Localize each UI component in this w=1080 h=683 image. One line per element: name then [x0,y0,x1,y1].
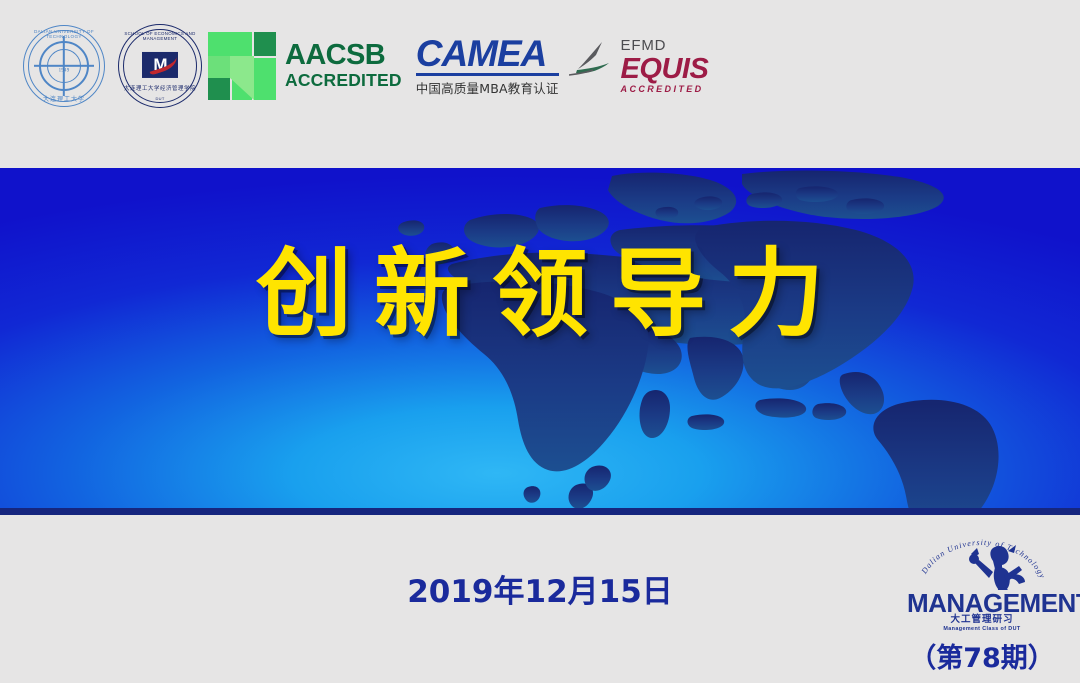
poster-slide: DALIAN UNIVERSITY OF TECHNOLOGY 1949 大连理… [0,0,1080,683]
aacsb-wordmark: AACSB [285,41,402,70]
sem-seal-arc-top: SCHOOL OF ECONOMICS AND MANAGEMENT [118,31,202,41]
dut-seal-arc-bottom: 大连理工大学 [22,94,106,103]
camea-subtitle-cn: 中国高质量MBA教育认证 [416,78,559,97]
dut-seal-year: 1949 [59,69,70,74]
issue-number: （第78期） [902,636,1062,675]
camea-accredited-logo: CAMEA 中国高质量MBA教育认证 [416,35,559,96]
management-logo-block: Dalian University of Technology MANAGEME… [902,532,1062,675]
sem-school-seal-icon: SCHOOL OF ECONOMICS AND MANAGEMENT M 大连理… [118,24,206,108]
management-name-en: Management Class of DUT [907,626,1057,632]
management-logo-icon: Dalian University of Technology MANAGEME… [907,532,1057,632]
banner-bottom-edge [0,508,1080,515]
equis-accredited-label: ACCREDITED [621,84,709,94]
aacsb-accredited-logo: AACSB ACCREDITED [208,32,402,100]
equis-accredited-logo: EFMD EQUIS ACCREDITED [569,38,709,95]
dut-seal-arc-top: DALIAN UNIVERSITY OF TECHNOLOGY [22,29,106,39]
svg-text:Dalian University of Technolog: Dalian University of Technology [919,538,1047,580]
aacsb-accredited-label: ACCREDITED [285,70,402,92]
efmd-leaf-icon [569,39,615,93]
accreditation-header: DALIAN UNIVERSITY OF TECHNOLOGY 1949 大连理… [0,0,1080,168]
management-name-cn: 大工管理研习 [907,611,1057,625]
sem-seal-sub: DUT [118,96,202,101]
camea-wordmark: CAMEA [416,35,559,72]
management-logo-arc-and-lion: Dalian University of Technology [907,532,1057,590]
aacsb-mark-icon [208,32,276,100]
dut-university-seal-icon: DALIAN UNIVERSITY OF TECHNOLOGY 1949 大连理… [22,24,118,108]
sem-seal-name-cn: 大连理工大学经济管理学院 [118,84,202,92]
page-title: 创新领导力 [0,246,1080,342]
accreditation-logo-row: DALIAN UNIVERSITY OF TECHNOLOGY 1949 大连理… [22,22,708,110]
equis-wordmark: EQUIS [621,54,709,84]
efmd-wordmark: EFMD [621,38,709,55]
management-arc-text: Dalian University of Technology [919,538,1047,580]
